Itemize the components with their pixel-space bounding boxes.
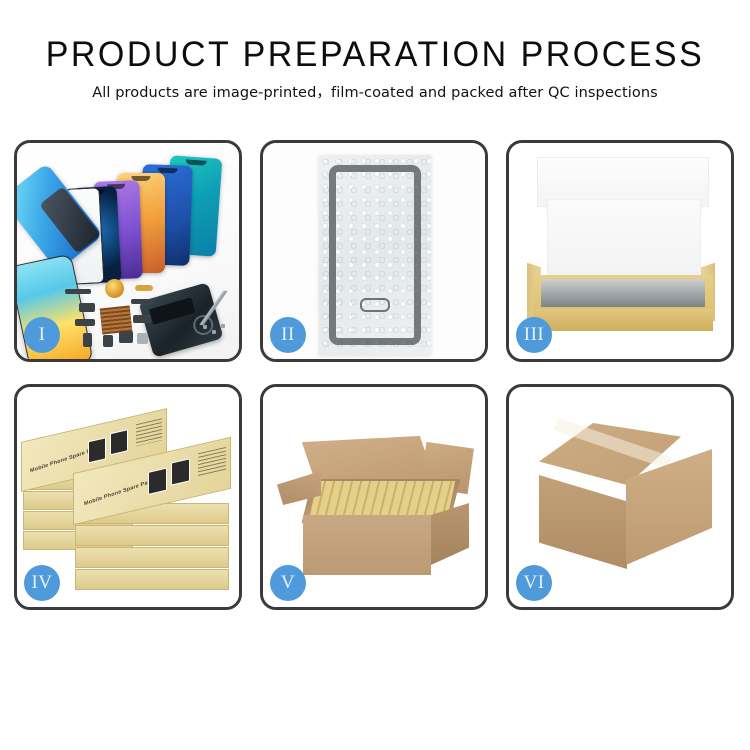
box-screen-thumbnail — [88, 437, 106, 463]
foam-padding-icon — [547, 199, 701, 285]
page-subtitle: All products are image-printed，film-coat… — [0, 83, 750, 103]
step-badge-3: III — [516, 317, 552, 353]
page-title: PRODUCT PREPARATION PROCESS — [11, 34, 739, 76]
vibrator-part-icon — [75, 319, 95, 326]
flex-cable-part-icon — [65, 289, 91, 294]
connector-part-icon — [135, 285, 153, 291]
process-step-panel-4: Mobile Phone Spare Parts Mobile Phone Sp… — [14, 384, 242, 610]
flex-cable-part-icon — [133, 315, 151, 323]
step-badge-6: VI — [516, 565, 552, 601]
box-spec-lines — [198, 447, 226, 477]
metal-bracket-part-icon — [137, 333, 148, 344]
speaker-part-icon — [105, 279, 124, 298]
process-step-panel-3: III — [506, 140, 734, 362]
box-screen-thumbnail — [148, 468, 167, 495]
process-steps-grid: I II III — [14, 140, 736, 610]
button-part-icon — [103, 335, 113, 347]
phone-notch-icon — [185, 159, 206, 165]
camera-module-part-icon — [79, 303, 95, 312]
kraft-box-front-icon — [533, 309, 713, 331]
process-step-panel-1: I — [14, 140, 242, 362]
box-label-text: Mobile Phone Spare Parts — [84, 478, 156, 508]
flex-cable-part-icon — [131, 299, 153, 304]
box-spec-lines — [136, 418, 162, 446]
header: PRODUCT PREPARATION PROCESS All products… — [0, 34, 750, 103]
process-step-panel-5: V — [260, 384, 488, 610]
box-screen-thumbnail — [171, 458, 190, 485]
step-badge-5: V — [270, 565, 306, 601]
carton-body-icon — [303, 515, 431, 575]
stacked-box — [75, 525, 229, 546]
process-step-panel-6: VI — [506, 384, 734, 610]
screws-icon — [201, 323, 227, 337]
step-badge-2: II — [270, 317, 306, 353]
wrapped-product-in-box-icon — [541, 279, 705, 307]
stacked-box — [75, 569, 229, 590]
sim-tray-part-icon — [83, 333, 92, 347]
step-badge-1: I — [24, 317, 60, 353]
step-badge-4: IV — [24, 565, 60, 601]
box-screen-thumbnail — [110, 429, 128, 455]
small-part-icon — [119, 331, 133, 343]
stacked-box — [75, 547, 229, 568]
bubble-wrap-texture-icon — [319, 155, 431, 355]
process-step-panel-2: II — [260, 140, 488, 362]
